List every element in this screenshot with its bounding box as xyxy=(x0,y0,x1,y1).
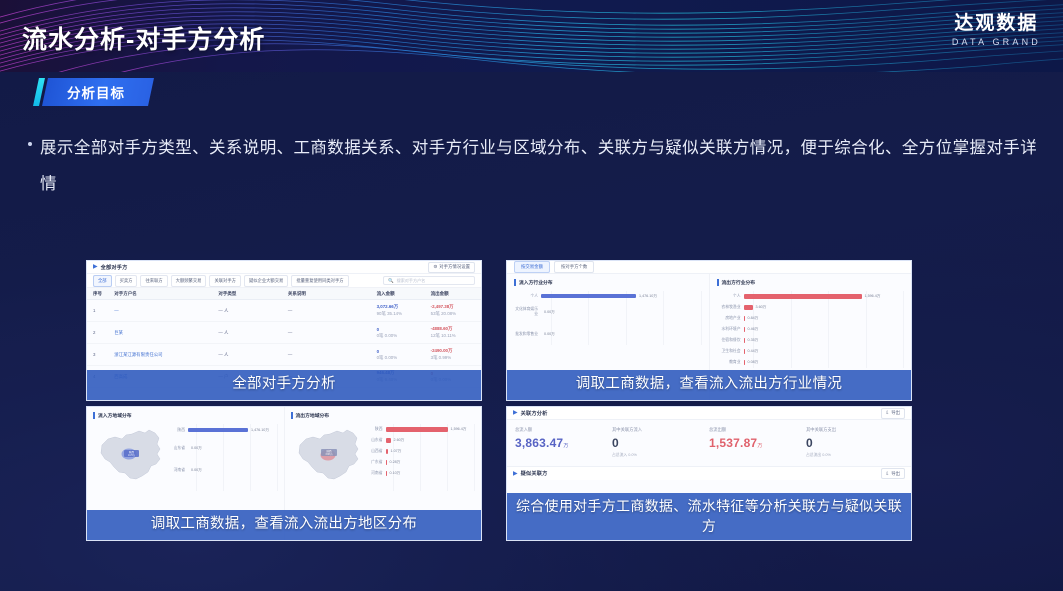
filter-chip-5[interactable]: 疑似企业大额交易 xyxy=(244,275,288,287)
bar-fill xyxy=(386,471,387,476)
cell-no: 1 xyxy=(93,308,114,313)
outflow-sub: 12笔 10.11% xyxy=(431,333,475,339)
cell-desc: — xyxy=(288,330,377,335)
bar-row: 房地产业 0.84万 xyxy=(717,313,905,324)
search-icon: 🔍 xyxy=(388,278,394,284)
bar-label: 山西省 xyxy=(368,449,386,454)
bar-row: 农林牧渔业 3.60万 xyxy=(717,302,905,313)
card-industry-distribution[interactable]: 按交易金额 按对手方个数 流入方行业分布 个人 1,476.10万 文化体育娱乐… xyxy=(506,260,912,401)
settings-label: 对手方情况设置 xyxy=(439,264,470,270)
bar-label: 河南省 xyxy=(170,468,188,473)
outflow-amount: -4888.60万 xyxy=(431,326,475,332)
download-icon: ⇩ xyxy=(886,471,890,477)
cell-inflow: 0 0笔 0.00% xyxy=(377,349,431,361)
stat-total-inflow: 总流入额 3,863.47万 xyxy=(515,427,612,458)
stat-label: 总流入额 xyxy=(515,427,612,433)
caret-right-icon: ▶ xyxy=(513,471,518,477)
bar-label: 山东省 xyxy=(170,446,188,451)
china-map-outflow[interactable]: 陕西 1596万 xyxy=(291,424,365,491)
card-counterparty-table[interactable]: ▶ 全部对手方 ⚙ 对手方情况设置 全部 买卖方 往来联方 大额频繁交易 关联对… xyxy=(86,260,482,401)
inflow-region-bars: 陕西 1,476.10万 山东省 0.00万 河南省 0.00万 xyxy=(170,424,278,491)
outflow-region-bars: 陕西 1,596.4万 山东省 2.60万 山西省 1.07万 xyxy=(368,424,476,491)
col-no: 序号 xyxy=(93,291,114,297)
card-caption: 全部对手方分析 xyxy=(87,370,481,400)
svg-text:陕西: 陕西 xyxy=(129,450,135,454)
badge-body: 分析目标 xyxy=(42,78,154,106)
bar-row: 教育业 0.08万 xyxy=(717,357,905,368)
cell-desc: — xyxy=(288,352,377,357)
card-region-distribution[interactable]: 流入方地域分布 陕西 1476万 陕西 xyxy=(86,406,482,541)
export-label: 导出 xyxy=(891,410,900,416)
logo-chinese: 达观数据 xyxy=(952,13,1041,35)
inflow-sub: 0笔 0.00% xyxy=(377,355,431,361)
cell-type: — 人 xyxy=(218,308,287,314)
inflow-sub: 0笔 0.00% xyxy=(377,333,431,339)
bar-value: 0.00万 xyxy=(191,468,202,473)
search-placeholder: 搜索对手方户名 xyxy=(397,278,426,284)
outflow-industry-title: 流出方行业分布 xyxy=(717,279,905,286)
search-input[interactable]: 🔍 搜索对手方户名 xyxy=(383,276,475,285)
bar-label: 陕西 xyxy=(368,427,386,432)
col-desc: 关系说明 xyxy=(288,291,377,297)
bar-row: 卫生和社会 0.44万 xyxy=(717,346,905,357)
bar-row: 个人 1,596.4万 xyxy=(717,291,905,302)
cell-name[interactable]: 巨某 xyxy=(114,330,218,336)
bar-value: 1,476.10万 xyxy=(251,428,269,433)
stat-value-wrap: 3,863.47万 xyxy=(515,436,612,450)
page-title: 流水分析-对手方分析 xyxy=(22,20,265,56)
bar-row: 河南省 0.10万 xyxy=(368,468,476,479)
outflow-amount: -2490.00万 xyxy=(431,348,475,354)
stat-value: 1,537.87 xyxy=(709,436,757,450)
bar-fill xyxy=(386,438,391,443)
bar-fill xyxy=(188,428,248,433)
bullet-dot-icon xyxy=(28,142,32,146)
stat-value-wrap: 0 xyxy=(806,436,903,450)
panel-header: ▶ 全部对手方 ⚙ 对手方情况设置 xyxy=(87,261,481,274)
bar-value: 0.46万 xyxy=(748,327,759,332)
bar-fill xyxy=(386,449,388,454)
outflow-sub: 3笔 0.99% xyxy=(431,355,475,361)
outflow-industry-bars: 个人 1,596.4万 农林牧渔业 3.60万 房地产业 0.84万 xyxy=(717,291,905,368)
bar-label: 广东省 xyxy=(368,460,386,465)
stat-unit: 万 xyxy=(757,443,762,449)
related-party-header: ▶ 关联方分析 ⇩ 导出 xyxy=(507,407,911,420)
bar-fill xyxy=(386,427,448,432)
stat-label: 总流出额 xyxy=(709,427,806,433)
bar-value: 2.60万 xyxy=(394,438,405,443)
bar-value: 1,476.10万 xyxy=(639,294,657,299)
stat-total-outflow: 总流出额 1,537.87万 xyxy=(709,427,806,458)
bar-value: 0.35万 xyxy=(748,338,759,343)
stat-unit: 万 xyxy=(563,443,568,449)
export-button[interactable]: ⇩ 导出 xyxy=(881,408,905,419)
bar-fill xyxy=(744,327,745,332)
cell-desc: — xyxy=(288,308,377,313)
stat-value-wrap: 0 xyxy=(612,436,709,450)
card-caption: 调取工商数据，查看流入流出方行业情况 xyxy=(507,370,911,400)
cell-name[interactable]: — xyxy=(114,308,218,313)
cell-outflow: -2,497.38万 53笔 20.08% xyxy=(431,304,475,317)
outflow-sub: 53笔 20.08% xyxy=(431,311,475,317)
bar-value: 1,596.4万 xyxy=(451,427,467,432)
bar-label: 山东省 xyxy=(368,438,386,443)
inflow-amount: 0 xyxy=(377,327,431,332)
bar-row: 山东省 0.00万 xyxy=(170,436,278,460)
bar-value: 0.00万 xyxy=(544,310,555,315)
filter-chip-2[interactable]: 往来联方 xyxy=(140,275,167,287)
bar-label: 文化体育娱乐业 xyxy=(514,307,541,317)
inflow-amount: 3,072.66万 xyxy=(377,304,431,310)
bar-label: 住宿和餐饮 xyxy=(717,338,744,343)
stat-value: 0 xyxy=(806,436,813,450)
bar-row: 批发和零售业 0.00万 xyxy=(514,323,702,345)
suspected-related-header: ▶ 疑似关联方 ⇩ 导出 xyxy=(507,467,911,480)
bar-row: 河南省 0.00万 xyxy=(170,460,278,480)
bar-fill xyxy=(744,349,745,354)
section-badge: 分析目标 xyxy=(36,78,151,106)
chart-tab-row[interactable]: 按交易金额 按对手方个数 xyxy=(507,261,911,274)
bar-label: 农林牧渔业 xyxy=(717,305,744,310)
bar-row: 文化体育娱乐业 0.00万 xyxy=(514,301,702,323)
download-icon: ⇩ xyxy=(886,410,890,416)
stat-sub: 占总流出 0.0% xyxy=(806,453,903,458)
col-outflow: 流出金额 xyxy=(431,291,475,297)
bar-value: 0.08万 xyxy=(748,360,759,365)
brand-logo: 达观数据 DATA GRAND xyxy=(952,13,1041,49)
export-label: 导出 xyxy=(891,471,900,477)
inflow-industry-title: 流入方行业分布 xyxy=(514,279,702,286)
stat-related-outflow: 其中关联方支出 0 占总流出 0.0% xyxy=(806,427,903,458)
bar-row: 陕西 1,596.4万 xyxy=(368,424,476,435)
inflow-sub: 90笔 35.14% xyxy=(377,311,431,317)
badge-label: 分析目标 xyxy=(67,82,125,102)
bar-fill xyxy=(744,294,862,299)
bar-value: 1,596.4万 xyxy=(865,294,881,299)
card-caption: 综合使用对手方工商数据、流水特征等分析关联方与疑似关联方 xyxy=(507,493,911,540)
bar-value: 0.00万 xyxy=(191,446,202,451)
outflow-region-title: 流出方地域分布 xyxy=(291,412,476,419)
bar-fill xyxy=(744,305,753,310)
export-button-2[interactable]: ⇩ 导出 xyxy=(881,468,905,479)
bar-value: 1.07万 xyxy=(391,449,402,454)
bar-value: 3.60万 xyxy=(756,305,767,310)
bar-row: 山西省 1.07万 xyxy=(368,446,476,457)
cell-outflow: -4888.60万 12笔 10.11% xyxy=(431,326,475,339)
page-header: 流水分析-对手方分析 达观数据 DATA GRAND xyxy=(0,0,1063,72)
table-header-row: 序号 对手方户名 对手类型 关系说明 流入金额 流出金额 xyxy=(87,288,481,300)
bar-label: 批发和零售业 xyxy=(514,332,541,337)
stat-value: 3,863.47 xyxy=(515,436,563,450)
settings-button[interactable]: ⚙ 对手方情况设置 xyxy=(428,262,475,273)
col-name: 对手方户名 xyxy=(114,291,218,297)
table-row[interactable]: 2 巨某 — 人 — 0 0笔 0.00% -4888.60万 12笔 10.1… xyxy=(87,322,481,344)
bar-label: 卫生和社会 xyxy=(717,349,744,354)
panel-title: 全部对手方 xyxy=(101,264,128,271)
cell-no: 3 xyxy=(93,352,114,357)
bar-row: 水利环境产 0.46万 xyxy=(717,324,905,335)
cell-inflow: 0 0笔 0.00% xyxy=(377,327,431,339)
bar-label: 水利环境产 xyxy=(717,327,744,332)
cell-type: — 人 xyxy=(218,330,287,336)
bar-fill xyxy=(744,316,745,321)
card-related-party[interactable]: ▶ 关联方分析 ⇩ 导出 总流入额 3,863.47万 其中关联方流入 0 占总… xyxy=(506,406,912,541)
stat-sub: 占总流入 0.0% xyxy=(612,453,709,458)
cell-name[interactable]: 浙江某江源有限责任公司 xyxy=(114,352,218,358)
cell-no: 2 xyxy=(93,330,114,335)
stat-value-wrap: 1,537.87万 xyxy=(709,436,806,450)
stat-label: 其中关联方流入 xyxy=(612,427,709,433)
cell-outflow: -2490.00万 3笔 0.99% xyxy=(431,348,475,361)
bar-row: 陕西 1,476.10万 xyxy=(170,424,278,436)
filter-chip-4[interactable]: 关联对手方 xyxy=(209,275,240,287)
col-inflow: 流入金额 xyxy=(377,291,431,297)
inflow-region-title: 流入方地域分布 xyxy=(93,412,278,419)
bar-label: 个人 xyxy=(514,294,541,299)
china-map-inflow[interactable]: 陕西 1476万 xyxy=(93,424,167,491)
cell-type: — 人 xyxy=(218,352,287,358)
filter-chip-6[interactable]: 批量重复使用同类对手方 xyxy=(291,275,348,287)
bar-fill xyxy=(541,294,636,299)
inflow-map-body: 陕西 1476万 陕西 1,476.10万 山东省 xyxy=(93,424,278,491)
bar-fill xyxy=(744,360,745,365)
filter-chip-row[interactable]: 全部 买卖方 往来联方 大额频繁交易 关联对手方 疑似企业大额交易 批量重复使用… xyxy=(87,274,481,288)
bar-label: 个人 xyxy=(717,294,744,299)
objective-text: 展示全部对手方类型、关系说明、工商数据关系、对手方行业与区域分布、关联方与疑似关… xyxy=(40,130,1038,202)
suspected-related-title: 疑似关联方 xyxy=(521,470,548,477)
bar-label: 教育业 xyxy=(717,360,744,365)
bar-label: 陕西 xyxy=(170,428,188,433)
stat-label: 其中关联方支出 xyxy=(806,427,903,433)
gear-icon: ⚙ xyxy=(433,264,437,270)
table-row[interactable]: 1 — — 人 — 3,072.66万 90笔 35.14% -2,497.38… xyxy=(87,300,481,322)
outflow-map-body: 陕西 1596万 陕西 1,596.4万 山东省 xyxy=(291,424,476,491)
inflow-industry-bars: 个人 1,476.10万 文化体育娱乐业 0.00万 批发和零售业 0.00万 xyxy=(514,291,702,345)
stat-related-inflow: 其中关联方流入 0 占总流入 0.0% xyxy=(612,427,709,458)
caret-right-icon: ▶ xyxy=(513,410,518,416)
bar-fill xyxy=(744,338,745,343)
bar-value: 0.10万 xyxy=(390,471,401,476)
svg-text:陕西: 陕西 xyxy=(326,449,332,453)
bar-row: 广东省 0.28万 xyxy=(368,457,476,468)
bar-row: 住宿和餐饮 0.35万 xyxy=(717,335,905,346)
related-party-stats: 总流入额 3,863.47万 其中关联方流入 0 占总流入 0.0% 总流出额 … xyxy=(507,420,911,466)
stat-value: 0 xyxy=(612,436,619,450)
bar-label: 河南省 xyxy=(368,471,386,476)
filter-chip-0[interactable]: 全部 xyxy=(93,275,112,287)
bar-value: 0.84万 xyxy=(748,316,759,321)
filter-chip-1[interactable]: 买卖方 xyxy=(115,275,138,287)
bar-value: 0.44万 xyxy=(748,349,759,354)
inflow-amount: 0 xyxy=(377,349,431,354)
filter-chip-3[interactable]: 大额频繁交易 xyxy=(171,275,207,287)
card-caption: 调取工商数据，查看流入流出方地区分布 xyxy=(87,510,481,540)
logo-english: DATA GRAND xyxy=(952,35,1041,49)
caret-right-icon: ▶ xyxy=(93,264,98,270)
related-party-title: 关联方分析 xyxy=(521,410,548,417)
outflow-amount: -2,497.38万 xyxy=(431,304,475,310)
tab-by-amount[interactable]: 按交易金额 xyxy=(514,261,550,273)
bar-row: 个人 1,476.10万 xyxy=(514,291,702,301)
tab-by-count[interactable]: 按对手方个数 xyxy=(554,261,594,273)
bar-value: 0.28万 xyxy=(390,460,401,465)
bar-row: 山东省 2.60万 xyxy=(368,435,476,446)
bar-label: 房地产业 xyxy=(717,316,744,321)
col-type: 对手类型 xyxy=(218,291,287,297)
table-row[interactable]: 3 浙江某江源有限责任公司 — 人 — 0 0笔 0.00% -2490.00万… xyxy=(87,344,481,366)
bar-value: 0.00万 xyxy=(544,332,555,337)
bar-fill xyxy=(386,460,387,465)
objective-bullet: 展示全部对手方类型、关系说明、工商数据关系、对手方行业与区域分布、关联方与疑似关… xyxy=(28,130,1038,202)
cell-inflow: 3,072.66万 90笔 35.14% xyxy=(377,304,431,317)
